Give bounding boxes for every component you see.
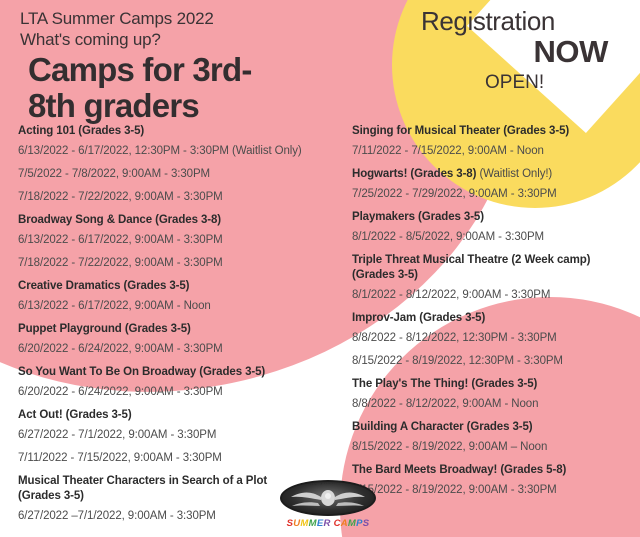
camp-title: Broadway Song & Dance (Grades 3-8) (18, 213, 338, 228)
camp-session: 8/8/2022 - 8/12/2022, 12:30PM - 3:30PM (352, 331, 638, 346)
camp-session: 7/25/2022 - 7/29/2022, 9:00AM - 3:30PM (352, 187, 638, 202)
camp-entry: Singing for Musical Theater (Grades 3-5)… (352, 124, 638, 159)
camp-entry: Puppet Playground (Grades 3-5)6/20/2022 … (18, 322, 338, 357)
lta-summer-camps-logo: The Little Theatre of Alexandria SUMMER … (272, 474, 384, 532)
headline-line-2: 8th graders (28, 88, 252, 124)
headline-line-1: Camps for 3rd- (28, 52, 252, 88)
camp-title: The Play's The Thing! (Grades 3-5) (352, 377, 638, 392)
camp-session: 7/18/2022 - 7/22/2022, 9:00AM - 3:30PM (18, 190, 338, 205)
camp-list-left-column: Acting 101 (Grades 3-5)6/13/2022 - 6/17/… (18, 124, 338, 524)
camp-title: Creative Dramatics (Grades 3-5) (18, 279, 338, 294)
camp-title: Singing for Musical Theater (Grades 3-5) (352, 124, 638, 139)
camp-session: 7/11/2022 - 7/15/2022, 9:00AM - Noon (352, 144, 638, 159)
wings-icon (288, 485, 368, 511)
camp-session: 8/15/2022 - 8/19/2022, 9:00AM - 3:30PM (352, 483, 638, 498)
camp-session: 8/15/2022 - 8/19/2022, 12:30PM - 3:30PM (352, 354, 638, 369)
camp-entry: The Play's The Thing! (Grades 3-5)8/8/20… (352, 377, 638, 412)
camp-title: The Bard Meets Broadway! (Grades 5-8) (352, 463, 638, 478)
camp-entry: Building A Character (Grades 3-5)8/15/20… (352, 420, 638, 455)
camp-title: Building A Character (Grades 3-5) (352, 420, 638, 435)
camp-session: 8/1/2022 - 8/5/2022, 9:00AM - 3:30PM (352, 230, 638, 245)
camp-entry: Acting 101 (Grades 3-5)6/13/2022 - 6/17/… (18, 124, 338, 205)
camp-title-note: (Waitlist Only!) (476, 168, 552, 180)
camp-session: 8/1/2022 - 8/12/2022, 9:00AM - 3:30PM (352, 288, 638, 303)
logo-summer-camps-text: SUMMER CAMPS (272, 518, 384, 529)
camp-title: Improv-Jam (Grades 3-5) (352, 311, 638, 326)
camp-session: 8/8/2022 - 8/12/2022, 9:00AM - Noon (352, 397, 638, 412)
camp-entry: Broadway Song & Dance (Grades 3-8)6/13/2… (18, 213, 338, 271)
camp-session: 7/11/2022 - 7/15/2022, 9:00AM - 3:30PM (18, 451, 338, 466)
camp-title: Hogwarts! (Grades 3-8) (Waitlist Only!) (352, 167, 638, 182)
poster-content: LTA Summer Camps 2022 What's coming up? … (0, 0, 640, 537)
camp-title: Puppet Playground (Grades 3-5) (18, 322, 338, 337)
camp-entry: Improv-Jam (Grades 3-5)8/8/2022 - 8/12/2… (352, 311, 638, 369)
camp-entry: Creative Dramatics (Grades 3-5)6/13/2022… (18, 279, 338, 314)
camp-session: 7/18/2022 - 7/22/2022, 9:00AM - 3:30PM (18, 256, 338, 271)
camp-entry: Hogwarts! (Grades 3-8) (Waitlist Only!)7… (352, 167, 638, 202)
camp-title: Triple Threat Musical Theatre (2 Week ca… (352, 253, 638, 283)
camp-session: 6/27/2022 - 7/1/2022, 9:00AM - 3:30PM (18, 428, 338, 443)
camp-title: So You Want To Be On Broadway (Grades 3-… (18, 365, 338, 380)
camp-session: 6/20/2022 - 6/24/2022, 9:00AM - 3:30PM (18, 385, 338, 400)
registration-now: NOW (415, 36, 630, 68)
camp-session: 6/13/2022 - 6/17/2022, 9:00AM - Noon (18, 299, 338, 314)
camp-session: 6/13/2022 - 6/17/2022, 9:00AM - 3:30PM (18, 233, 338, 248)
camp-title: Act Out! (Grades 3-5) (18, 408, 338, 423)
poster-kicker: LTA Summer Camps 2022 What's coming up? (20, 8, 214, 50)
kicker-line-2: What's coming up? (20, 29, 214, 50)
camp-title: Acting 101 (Grades 3-5) (18, 124, 338, 139)
camp-entry: Act Out! (Grades 3-5)6/27/2022 - 7/1/202… (18, 408, 338, 466)
logo-emblem-icon: The Little Theatre of Alexandria (280, 480, 376, 516)
camp-session: 8/15/2022 - 8/19/2022, 9:00AM – Noon (352, 440, 638, 455)
registration-open: OPEN! (415, 68, 630, 98)
camp-entry: Playmakers (Grades 3-5)8/1/2022 - 8/5/20… (352, 210, 638, 245)
camp-entry: So You Want To Be On Broadway (Grades 3-… (18, 365, 338, 400)
camp-entry: Triple Threat Musical Theatre (2 Week ca… (352, 253, 638, 303)
camp-session: 6/20/2022 - 6/24/2022, 9:00AM - 3:30PM (18, 342, 338, 357)
kicker-line-1: LTA Summer Camps 2022 (20, 8, 214, 29)
camp-session: 6/13/2022 - 6/17/2022, 12:30PM - 3:30PM … (18, 144, 338, 159)
page-title: Camps for 3rd- 8th graders (28, 52, 252, 124)
registration-label: Registration (415, 6, 630, 36)
registration-callout: Registration NOW OPEN! (415, 6, 630, 98)
camp-session: 7/5/2022 - 7/8/2022, 9:00AM - 3:30PM (18, 167, 338, 182)
camp-title: Playmakers (Grades 3-5) (352, 210, 638, 225)
summer-camps-poster: LTA Summer Camps 2022 What's coming up? … (0, 0, 640, 537)
camp-title-line-2: (Grades 3-5) (352, 268, 638, 283)
camp-entry: The Bard Meets Broadway! (Grades 5-8)8/1… (352, 463, 638, 498)
camp-list-right-column: Singing for Musical Theater (Grades 3-5)… (352, 124, 638, 498)
